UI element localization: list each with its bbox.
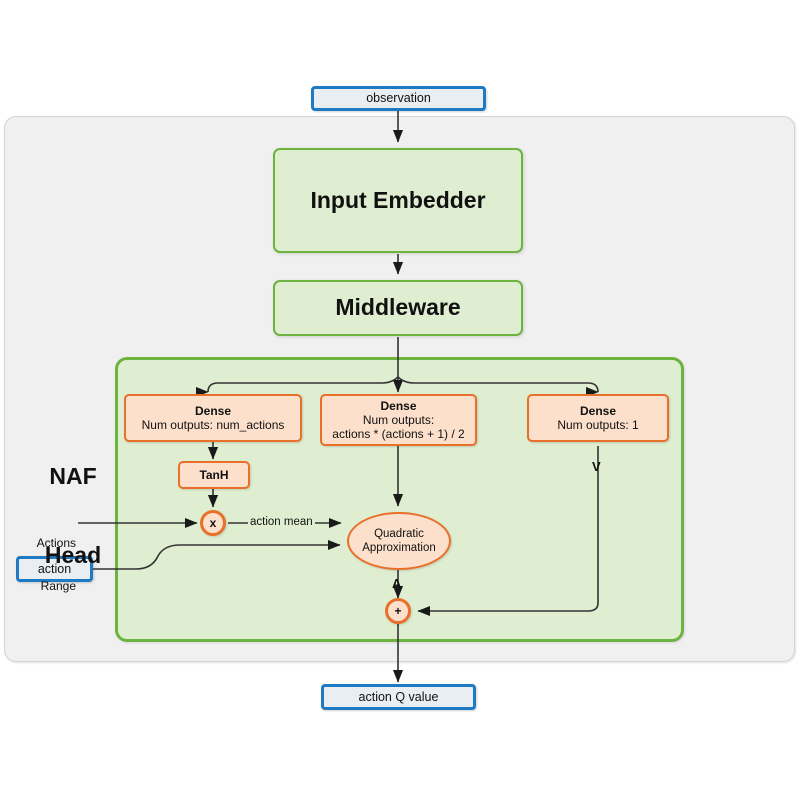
dense-mid-title: Dense: [380, 399, 416, 413]
observation-box[interactable]: observation: [311, 86, 486, 111]
quadratic-approximation-line2: Approximation: [362, 541, 436, 555]
add-operator[interactable]: +: [385, 598, 411, 624]
dense-mid-detail-2: actions * (actions + 1) / 2: [332, 427, 464, 441]
quadratic-approximation-node[interactable]: Quadratic Approximation: [347, 512, 451, 570]
action-mean-label: action mean: [248, 516, 315, 528]
dense-left-box[interactable]: Dense Num outputs: num_actions: [124, 394, 302, 442]
advantage-label: A: [392, 576, 401, 591]
value-label: V: [592, 459, 601, 474]
actions-range-line2: Range: [18, 579, 76, 593]
action-q-value-label: action Q value: [359, 690, 439, 705]
input-embedder-box[interactable]: Input Embedder: [273, 148, 523, 253]
dense-left-detail: Num outputs: num_actions: [142, 418, 285, 432]
dense-right-detail: Num outputs: 1: [557, 418, 638, 432]
observation-label: observation: [366, 91, 431, 106]
input-embedder-label: Input Embedder: [310, 187, 485, 214]
dense-right-box[interactable]: Dense Num outputs: 1: [527, 394, 669, 442]
add-symbol: +: [394, 604, 401, 618]
quadratic-approximation-line1: Quadratic: [374, 527, 424, 541]
tanh-box[interactable]: TanH: [178, 461, 250, 489]
dense-left-title: Dense: [195, 404, 231, 418]
dense-mid-box[interactable]: Dense Num outputs: actions * (actions + …: [320, 394, 477, 446]
middleware-box[interactable]: Middleware: [273, 280, 523, 336]
naf-head-title-line1: NAF: [26, 463, 120, 489]
actions-range-line1: Actions: [18, 536, 76, 550]
action-q-value-box[interactable]: action Q value: [321, 684, 476, 710]
actions-range-label: Actions Range: [18, 507, 76, 622]
multiply-operator[interactable]: x: [200, 510, 226, 536]
middleware-label: Middleware: [335, 294, 460, 321]
multiply-symbol: x: [210, 516, 217, 530]
dense-right-title: Dense: [580, 404, 616, 418]
dense-mid-detail-1: Num outputs:: [363, 413, 434, 427]
tanh-label: TanH: [199, 468, 228, 482]
diagram-canvas: observation action action Q value Input …: [0, 0, 800, 800]
